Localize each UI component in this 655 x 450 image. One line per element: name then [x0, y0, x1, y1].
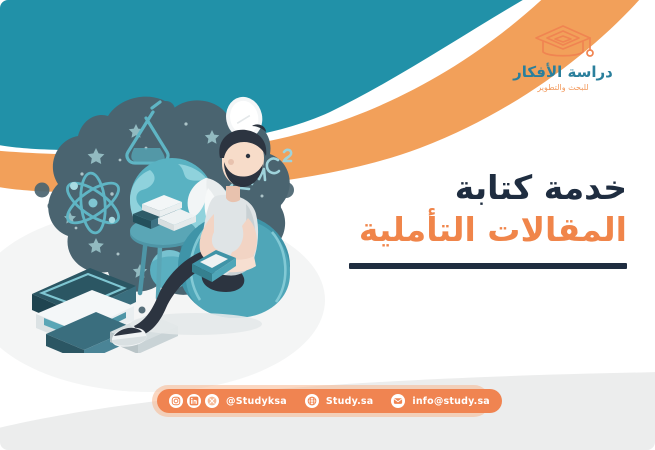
x-twitter-icon[interactable] [205, 394, 219, 408]
contact-bar: @Studyksa Study.sa info@study.sa [157, 389, 502, 413]
linkedin-icon[interactable] [187, 394, 201, 408]
cloud-dot [139, 307, 146, 314]
logo-name: دراسة الأفكار [497, 64, 629, 81]
contact-group-website[interactable]: Study.sa [305, 394, 374, 408]
globe-icon[interactable] [305, 394, 319, 408]
headline-underline [349, 263, 627, 269]
headline-line-1: خدمة كتابة [297, 168, 627, 208]
contact-group-email[interactable]: info@study.sa [391, 394, 490, 408]
headline-line-2: المقالات التأملية [297, 210, 627, 250]
envelope-icon[interactable] [391, 394, 405, 408]
cloud-dot [35, 183, 50, 198]
social-handle: @Studyksa [226, 396, 287, 407]
graduation-cap-icon [532, 22, 594, 62]
brand-logo[interactable]: دراسة الأفكار للبحث والتطوير [497, 22, 629, 92]
email-label: info@study.sa [412, 396, 490, 407]
website-label: Study.sa [326, 396, 374, 407]
atom-electron [70, 182, 78, 190]
man-neck [226, 186, 240, 202]
poster-canvas: دراسة الأفكار للبحث والتطوير خدمة كتابة … [0, 0, 655, 450]
contact-group-social[interactable]: @Studyksa [169, 394, 287, 408]
man-eye [246, 154, 250, 158]
atom-electron [109, 217, 115, 223]
headline-block: خدمة كتابة المقالات التأملية [297, 168, 627, 269]
instagram-icon[interactable] [169, 394, 183, 408]
logo-tagline: للبحث والتطوير [497, 83, 629, 92]
illustration-man-reading [0, 78, 330, 353]
atom-nucleus [89, 199, 98, 208]
